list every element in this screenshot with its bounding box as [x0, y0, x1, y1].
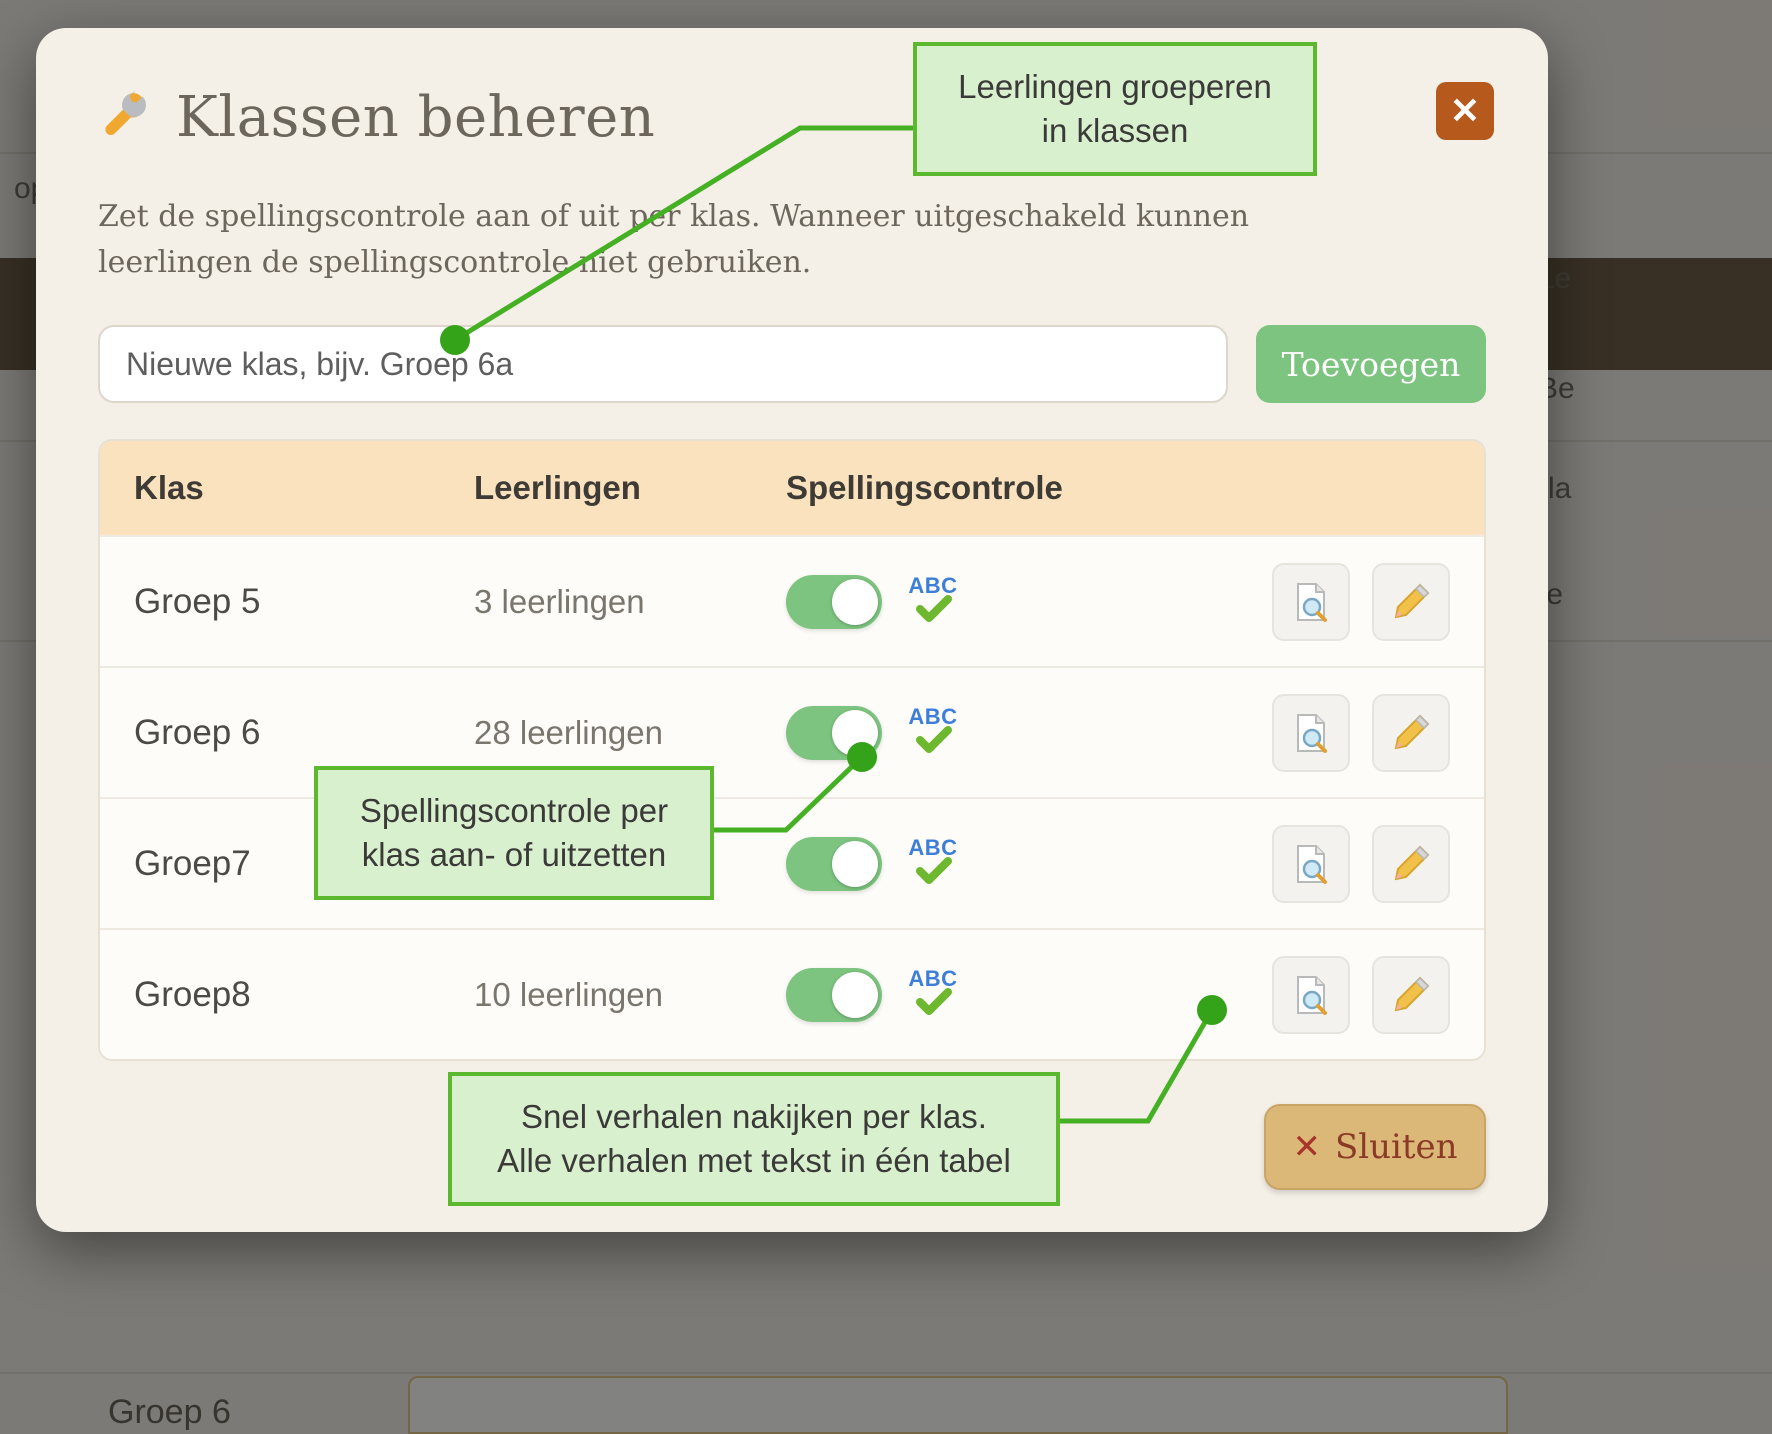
pencil-icon[interactable] — [1372, 825, 1450, 903]
cell-leerlingen: 10 leerlingen — [474, 976, 786, 1014]
spellcheck-toggle[interactable] — [786, 837, 882, 891]
document-search-icon[interactable] — [1272, 694, 1350, 772]
spellcheck-toggle[interactable] — [786, 968, 882, 1022]
annotation-leerlingen-groeperen: Leerlingen groeperen in klassen — [913, 42, 1317, 176]
abc-label: ABC — [906, 966, 960, 992]
abc-check-icon: ABC — [906, 837, 960, 891]
cell-spellingscontrole: ABC — [786, 837, 1186, 891]
pencil-icon[interactable] — [1372, 956, 1450, 1034]
abc-label: ABC — [906, 573, 960, 599]
cell-spellingscontrole: ABC — [786, 575, 1186, 629]
close-icon-glyph: ✕ — [1450, 93, 1480, 129]
cell-leerlingen: 28 leerlingen — [474, 714, 786, 752]
cell-actions — [1186, 563, 1450, 641]
x-icon: ✕ — [1292, 1127, 1321, 1167]
abc-check-icon: ABC — [906, 575, 960, 629]
table-row: Groep8 10 leerlingen ABC — [100, 928, 1484, 1059]
screen: op Le Be Kla Ve Groep 6 Klassen beheren … — [0, 0, 1772, 1434]
page-title: Klassen beheren — [176, 85, 655, 150]
klassen-beheren-dialog: Klassen beheren Zet de spellingscontrole… — [36, 28, 1548, 1232]
new-class-input[interactable] — [98, 325, 1228, 403]
toggle-knob — [832, 579, 878, 625]
cell-leerlingen: 3 leerlingen — [474, 583, 786, 621]
classes-table: Klas Leerlingen Spellingscontrole Groep … — [98, 439, 1486, 1061]
add-class-button[interactable]: Toevoegen — [1256, 325, 1486, 403]
annotation-spellingscontrole: Spellingscontrole per klas aan- of uitze… — [314, 766, 714, 900]
add-class-row: Toevoegen — [98, 325, 1486, 403]
document-search-icon[interactable] — [1272, 956, 1350, 1034]
column-header-spellingscontrole: Spellingscontrole — [786, 469, 1186, 507]
abc-check-icon: ABC — [906, 968, 960, 1022]
toggle-knob — [832, 710, 878, 756]
cell-actions — [1186, 825, 1450, 903]
pencil-icon[interactable] — [1372, 694, 1450, 772]
cell-klas: Groep8 — [134, 975, 474, 1015]
spellcheck-toggle[interactable] — [786, 575, 882, 629]
cell-actions — [1186, 956, 1450, 1034]
sluiten-button-label: Sluiten — [1335, 1127, 1458, 1167]
abc-label: ABC — [906, 704, 960, 730]
annotation-verhalen-nakijken: Snel verhalen nakijken per klas. Alle ve… — [448, 1072, 1060, 1206]
cell-actions — [1186, 694, 1450, 772]
cell-spellingscontrole: ABC — [786, 706, 1186, 760]
toggle-knob — [832, 972, 878, 1018]
document-search-icon[interactable] — [1272, 825, 1350, 903]
table-row: Groep 6 28 leerlingen ABC — [100, 666, 1484, 797]
cell-klas: Groep 6 — [134, 713, 474, 753]
abc-check-icon: ABC — [906, 706, 960, 760]
pencil-icon[interactable] — [1372, 563, 1450, 641]
table-header-row: Klas Leerlingen Spellingscontrole — [100, 441, 1484, 535]
toggle-knob — [832, 841, 878, 887]
cell-spellingscontrole: ABC — [786, 968, 1186, 1022]
table-row: Groep7 ABC — [100, 797, 1484, 928]
table-row: Groep 5 3 leerlingen ABC — [100, 535, 1484, 666]
cell-klas: Groep 5 — [134, 582, 474, 622]
close-icon[interactable]: ✕ — [1436, 82, 1494, 140]
column-header-leerlingen: Leerlingen — [474, 469, 786, 507]
sluiten-button[interactable]: ✕ Sluiten — [1264, 1104, 1486, 1190]
wrench-icon — [98, 87, 150, 148]
document-search-icon[interactable] — [1272, 563, 1350, 641]
spellcheck-toggle[interactable] — [786, 706, 882, 760]
abc-label: ABC — [906, 835, 960, 861]
column-header-klas: Klas — [134, 469, 474, 507]
dialog-description: Zet de spellingscontrole aan of uit per … — [98, 194, 1398, 285]
